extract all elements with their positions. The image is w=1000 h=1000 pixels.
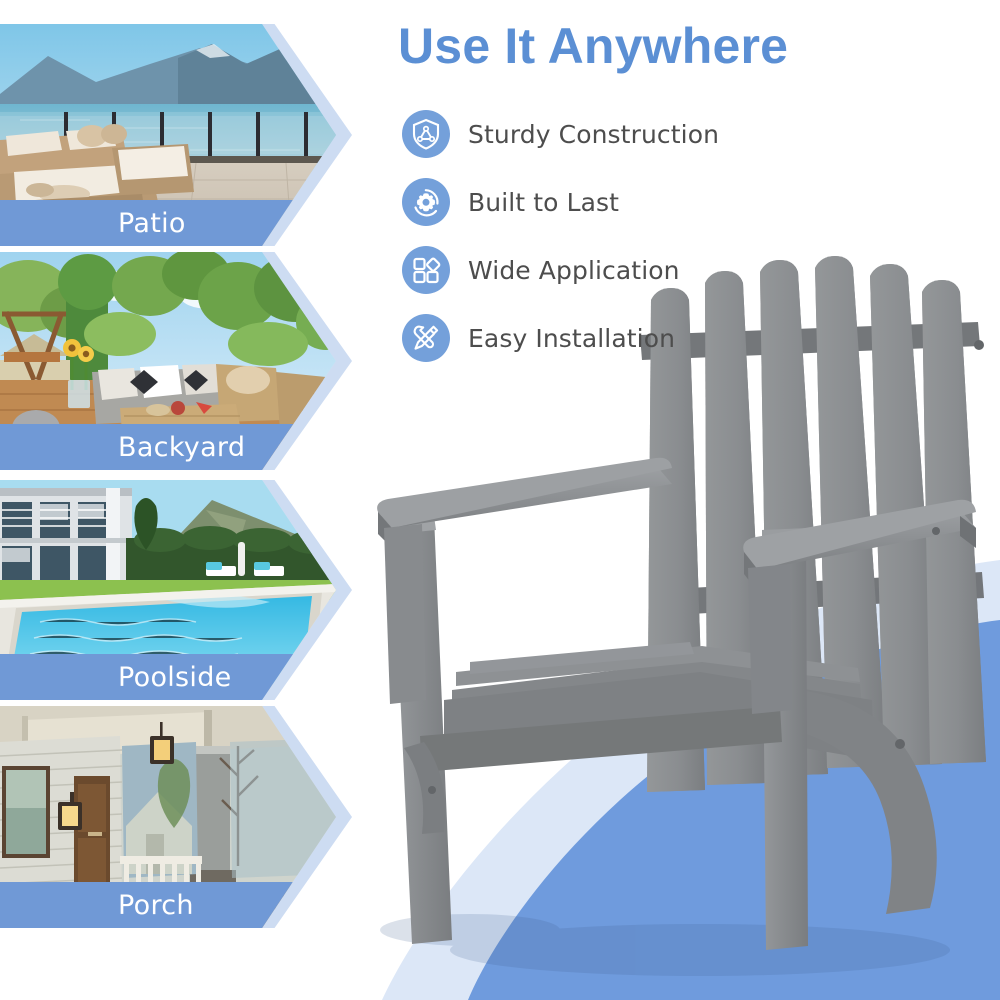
scene-label: Porch [118,890,194,921]
swoosh-blue-band [468,620,1000,1000]
front-left-leg [392,516,452,944]
grid-squares-icon [402,246,450,294]
scene-thumbnail-poolside[interactable]: Poolside [0,480,352,700]
rear-curved-leg [784,690,937,914]
promo-image: Use It Anywhere Sturdy Construction [0,0,1000,1000]
left-armrest [377,458,672,548]
feature-item-built-to-last: Built to Last [402,168,822,236]
gear-icon [402,178,450,226]
seat-apron [444,672,874,766]
feature-item-easy-installation: Easy Installation [402,304,822,372]
shield-nodes-icon [402,110,450,158]
feature-label: Easy Installation [468,324,675,353]
page-title: Use It Anywhere [398,18,978,74]
scene-label: Backyard [118,432,245,463]
feature-list: Sturdy Construction Built to Last [402,100,822,372]
modern-house [0,488,132,584]
scene-thumbnail-column: Patio [0,0,400,1000]
right-arm-post [748,564,792,714]
wrench-screwdriver-icon [402,314,450,362]
swoosh-pale-band [382,560,1000,1000]
feature-label: Sturdy Construction [468,120,719,149]
feature-item-sturdy-construction: Sturdy Construction [402,100,822,168]
chair-shadow [380,914,950,976]
feature-label: Wide Application [468,256,680,285]
left-foot-brace [404,742,445,834]
hardware-screws [428,340,984,794]
feature-label: Built to Last [468,188,619,217]
right-armrest [743,500,976,592]
scene-thumbnail-backyard[interactable]: Backyard [0,252,352,470]
leg-stretcher [420,706,782,772]
chair-seat [450,642,868,752]
front-right-leg [762,528,808,950]
scene-thumbnail-porch[interactable]: Porch [0,706,352,928]
feature-item-wide-application: Wide Application [402,236,822,304]
scene-thumbnail-patio[interactable]: Patio [0,24,352,246]
scene-label: Poolside [118,662,232,693]
scene-label: Patio [118,208,186,239]
